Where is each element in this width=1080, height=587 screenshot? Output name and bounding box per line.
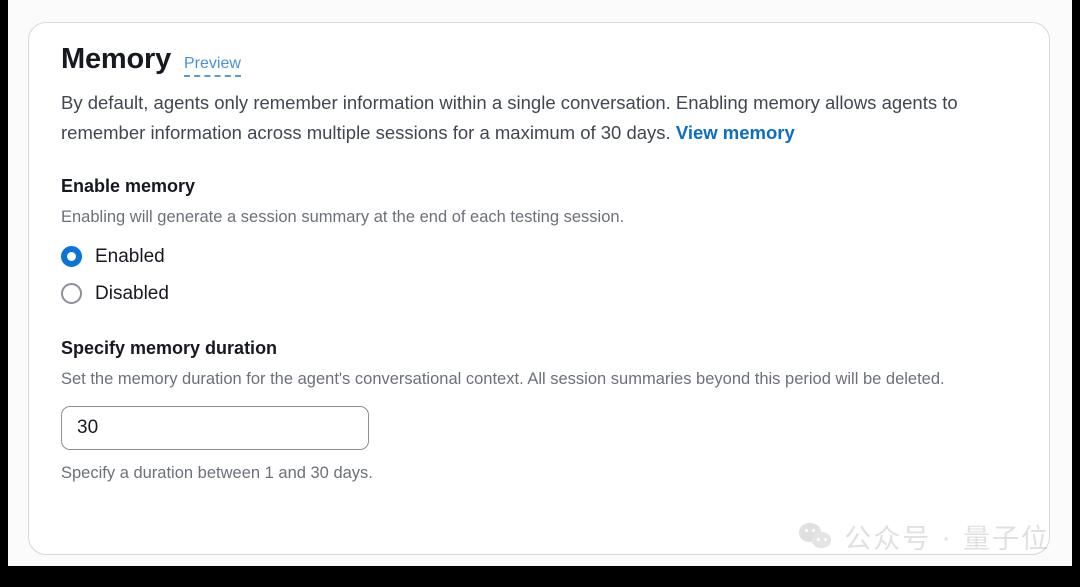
preview-badge-link[interactable]: Preview	[184, 55, 241, 77]
radio-selected-icon[interactable]	[61, 246, 82, 267]
radio-option-enabled[interactable]: Enabled	[61, 241, 1025, 273]
intro-paragraph: By default, agents only remember informa…	[61, 88, 1016, 148]
memory-duration-section: Specify memory duration Set the memory d…	[61, 336, 1025, 485]
enable-memory-description: Enabling will generate a session summary…	[61, 204, 1021, 230]
radio-option-enabled-label: Enabled	[95, 247, 165, 266]
card-header: Memory Preview	[61, 44, 1025, 77]
radio-unselected-icon[interactable]	[61, 283, 82, 304]
memory-settings-card: Memory Preview By default, agents only r…	[28, 22, 1050, 555]
screen-frame: Memory Preview By default, agents only r…	[0, 0, 1080, 587]
enable-memory-radio-group: Enabled Disabled	[61, 241, 1025, 310]
memory-duration-input[interactable]	[61, 406, 369, 450]
page-title: Memory	[61, 44, 171, 76]
memory-duration-description: Set the memory duration for the agent's …	[61, 366, 1021, 392]
memory-duration-label: Specify memory duration	[61, 336, 1025, 360]
view-memory-link[interactable]: View memory	[676, 122, 795, 143]
enable-memory-label: Enable memory	[61, 174, 1025, 198]
intro-text: By default, agents only remember informa…	[61, 92, 958, 143]
radio-option-disabled[interactable]: Disabled	[61, 278, 1025, 310]
card-content: Memory Preview By default, agents only r…	[61, 44, 1025, 485]
enable-memory-section: Enable memory Enabling will generate a s…	[61, 174, 1025, 310]
page-backdrop: Memory Preview By default, agents only r…	[8, 0, 1072, 566]
radio-option-disabled-label: Disabled	[95, 284, 169, 303]
memory-duration-hint: Specify a duration between 1 and 30 days…	[61, 462, 1025, 485]
